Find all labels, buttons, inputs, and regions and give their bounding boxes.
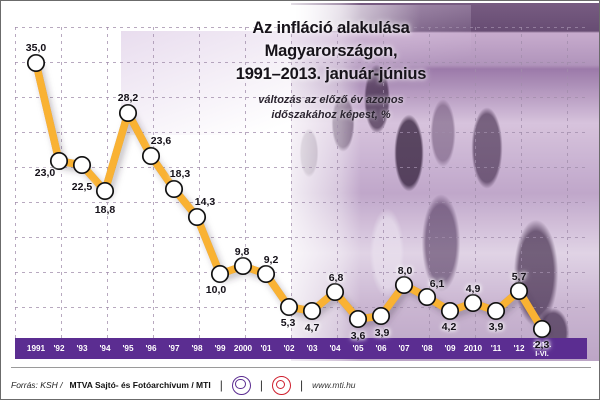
- data-point-marker[interactable]: [143, 148, 159, 164]
- title-line-3: 1991–2013. január-június: [197, 63, 465, 86]
- subtitle: változás az előző év azonos időszakához …: [197, 93, 465, 123]
- value-label-1991: 35,0: [22, 42, 50, 54]
- value-label-2000: 9,8: [229, 246, 255, 258]
- data-point-marker[interactable]: [74, 157, 90, 173]
- value-label-07: 8,0: [393, 265, 417, 277]
- value-label-01: 9,2: [258, 254, 284, 266]
- data-point-marker[interactable]: [304, 303, 320, 319]
- value-label-04: 6,8: [324, 272, 348, 284]
- data-point-marker[interactable]: [350, 311, 366, 327]
- data-point-marker[interactable]: [235, 258, 251, 274]
- value-label-05: 3,6: [346, 330, 370, 342]
- data-point-marker[interactable]: [212, 266, 228, 282]
- data-point-marker[interactable]: [281, 299, 297, 315]
- mti-logo-icon: [272, 376, 291, 395]
- value-label-09: 4,2: [437, 321, 461, 333]
- data-point-marker[interactable]: [166, 181, 182, 197]
- value-label-97: 18,3: [166, 168, 194, 180]
- title-line-2: Magyarországon,: [197, 40, 465, 63]
- title-line-1: Az infláció alakulása: [197, 17, 465, 40]
- title-block: Az infláció alakulása Magyarországon, 19…: [197, 17, 465, 123]
- subtitle-line-2: időszakához képest, %: [197, 108, 465, 123]
- value-label-03: 4,7: [300, 322, 324, 334]
- footer-bar: Forrás: KSH / MTVA Sajtó- és Fotóarchívu…: [11, 373, 591, 397]
- x-axis-band: 1991'92'93'94'95'96'97'98'992000'01'02'0…: [15, 338, 587, 359]
- value-label-92: 23,0: [31, 167, 59, 179]
- data-point-marker[interactable]: [373, 308, 389, 324]
- source-organisation: MTVA Sajtó- és Fotóarchívum / MTI: [69, 380, 210, 390]
- data-point-marker[interactable]: [396, 277, 412, 293]
- value-label-99: 10,0: [202, 284, 230, 296]
- value-label-2010: 4,9: [461, 283, 485, 295]
- value-label-12: 5,7: [507, 271, 531, 283]
- data-point-marker[interactable]: [534, 321, 550, 337]
- data-point-marker[interactable]: [442, 303, 458, 319]
- infographic-root: Az infláció alakulása Magyarországon, 19…: [0, 0, 600, 400]
- website-link[interactable]: www.mti.hu: [312, 380, 355, 390]
- data-point-marker[interactable]: [327, 284, 343, 300]
- footer-divider: [11, 367, 591, 368]
- data-point-marker[interactable]: [258, 266, 274, 282]
- value-label-06: 3,9: [370, 327, 394, 339]
- value-label-93: 22,5: [68, 181, 96, 193]
- mtva-logo-icon: [232, 376, 251, 395]
- data-point-marker[interactable]: [28, 55, 44, 71]
- data-point-marker[interactable]: [419, 289, 435, 305]
- value-label-02: 5,3: [276, 317, 300, 329]
- footer-separator-3: |: [298, 379, 305, 391]
- value-label-94: 18,8: [91, 204, 119, 216]
- value-label-96: 23,6: [147, 135, 175, 147]
- footer-separator-2: |: [258, 379, 265, 391]
- source-prefix: Forrás: KSH /: [11, 380, 62, 390]
- data-point-marker[interactable]: [488, 303, 504, 319]
- data-point-marker[interactable]: [511, 283, 527, 299]
- subtitle-line-1: változás az előző év azonos: [197, 93, 465, 108]
- data-point-marker[interactable]: [120, 105, 136, 121]
- value-label-98: 14,3: [191, 196, 219, 208]
- data-point-marker[interactable]: [189, 209, 205, 225]
- data-point-marker[interactable]: [465, 295, 481, 311]
- value-label-11: 3,9: [484, 321, 508, 333]
- data-point-marker[interactable]: [97, 183, 113, 199]
- value-label-95: 28,2: [114, 92, 142, 104]
- footer-separator-1: |: [218, 379, 225, 391]
- value-label-08: 6,1: [425, 278, 449, 290]
- value-label-2013IVI: 2,3: [530, 339, 554, 351]
